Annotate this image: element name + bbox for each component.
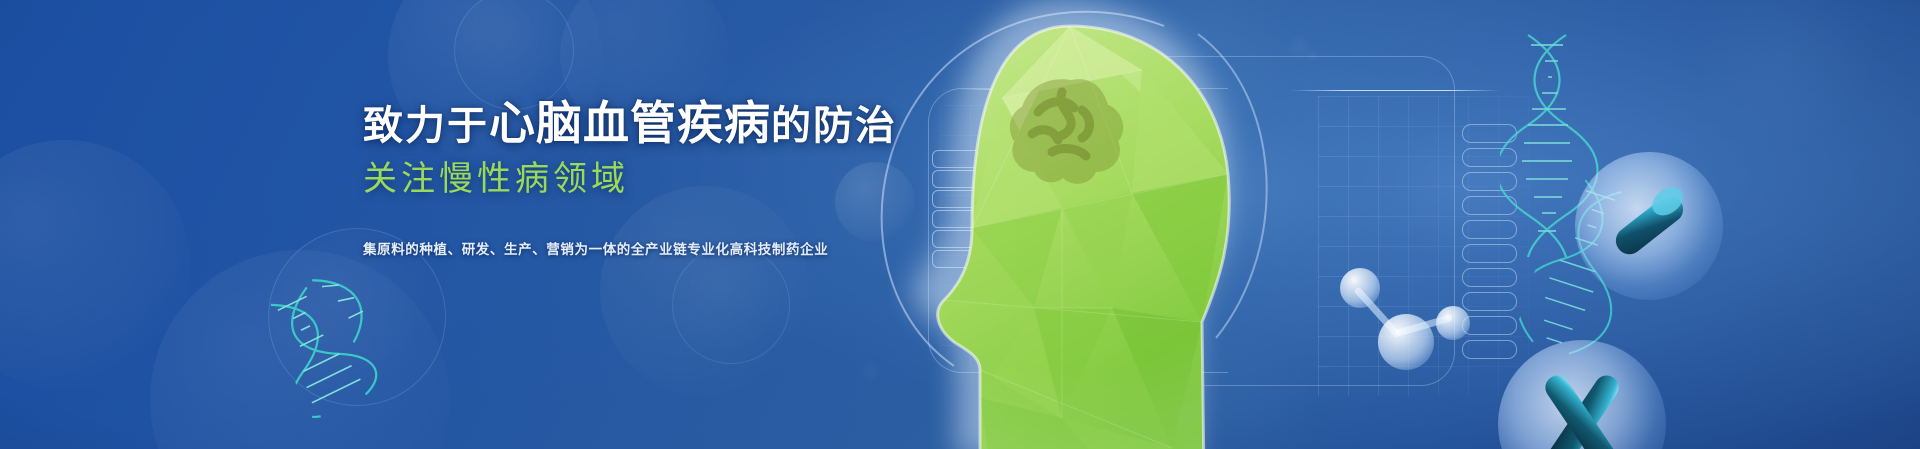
- page-tagline: 集原料的种植、研发、生产、营销为一体的全产业链专业化高科技制药企业: [363, 238, 1003, 258]
- molecule-atom: [1378, 314, 1434, 370]
- molecule-icon: [1338, 268, 1478, 378]
- hud-bar: [1462, 292, 1517, 311]
- hud-bar: [1462, 268, 1517, 287]
- page-title: 致力于心脑血管疾病的防治: [363, 96, 1003, 150]
- dna-helix-icon: [254, 241, 432, 424]
- molecule-atom: [1436, 306, 1470, 340]
- bokeh-circle: [672, 246, 790, 364]
- bokeh-circle: [454, 0, 574, 110]
- cell-icon: [1498, 340, 1666, 449]
- hud-bar: [1462, 316, 1517, 335]
- headline-main: 致力于: [363, 104, 489, 148]
- pharma-hero-banner: 致力于心脑血管疾病的防治 关注慢性病领域 集原料的种植、研发、生产、营销为一体的…: [0, 0, 1920, 449]
- molecule-atom: [1340, 268, 1380, 308]
- chromosome-icon: [1498, 340, 1666, 449]
- page-subtitle: 关注慢性病领域: [363, 159, 1003, 200]
- molecule-bond: [1395, 314, 1453, 337]
- bacterium-icon: [1575, 152, 1723, 300]
- headline-tail: 的防治: [771, 104, 897, 148]
- cell-icon: [1575, 152, 1723, 300]
- headline-emphasis: 心脑血管疾病: [489, 97, 771, 149]
- hero-copy: 致力于心脑血管疾病的防治 关注慢性病领域 集原料的种植、研发、生产、营销为一体的…: [363, 96, 1003, 258]
- molecule-bond: [1353, 286, 1401, 338]
- bokeh-circle: [1690, 0, 1880, 150]
- bokeh-circle: [0, 140, 190, 390]
